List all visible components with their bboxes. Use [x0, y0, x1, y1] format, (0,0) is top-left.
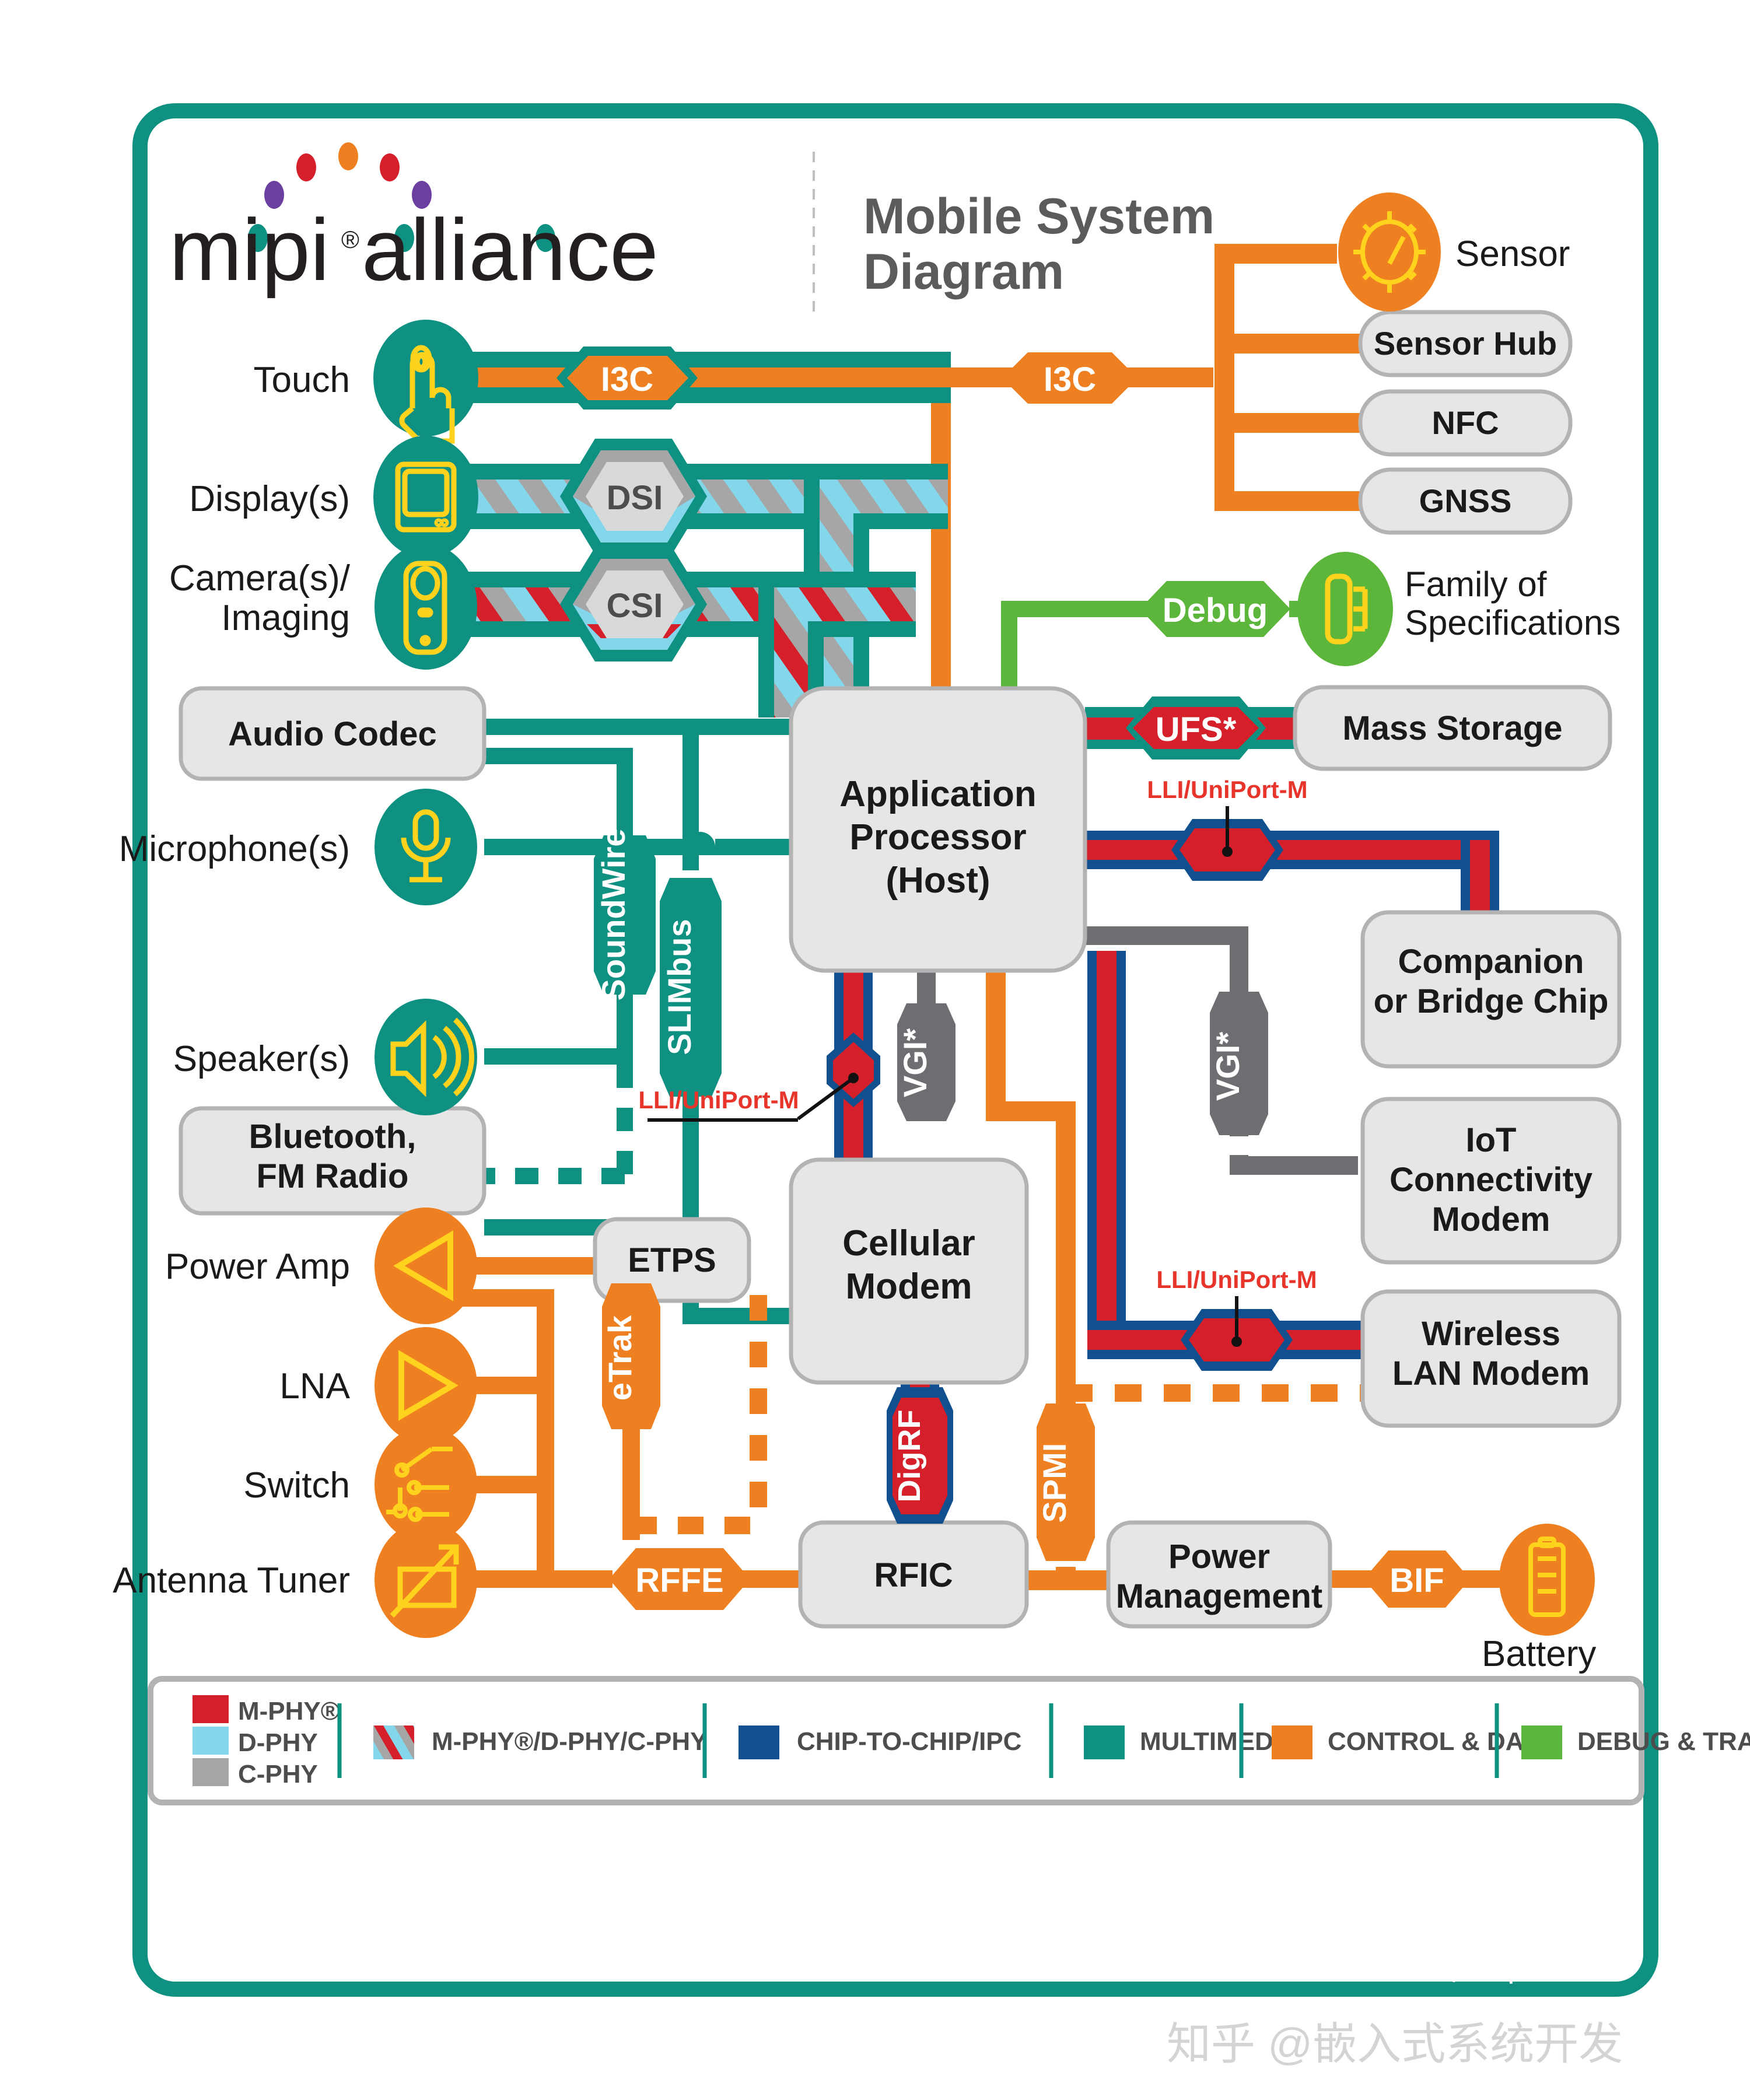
- box-sensor-hub-label: Sensor Hub: [1374, 325, 1557, 362]
- box-app-processor[interactable]: Application Processor (Host): [791, 688, 1085, 971]
- box-bluetooth-fm-label-1: Bluetooth,: [249, 1118, 416, 1156]
- annotation-lli-wlan: LLI/UniPort-M: [1156, 1266, 1317, 1293]
- logo-dot-red-left: [296, 153, 316, 181]
- bus-pill-digrf-label: DigRF: [892, 1410, 927, 1503]
- wire-vgi-right-h: [1085, 926, 1248, 945]
- box-iot-modem-label-1: IoT: [1466, 1121, 1517, 1159]
- bus-pill-soundwire[interactable]: SoundWire: [594, 828, 656, 1000]
- wire-soundwire-down: [617, 748, 633, 835]
- legend-label-mphy: M-PHY®: [238, 1697, 339, 1725]
- bus-pill-spmi-label: SPMI: [1036, 1443, 1073, 1523]
- box-app-processor-label-3: (Host): [885, 860, 990, 901]
- logo-registered-mark: ®: [341, 226, 359, 253]
- box-bluetooth-fm[interactable]: Bluetooth, FM Radio: [181, 1108, 484, 1213]
- wire-i3c-to-sensor: [1214, 244, 1337, 264]
- bus-pill-i3c-right-label: I3C: [1044, 360, 1096, 398]
- bus-pill-etrak-label: eTrak: [601, 1315, 638, 1401]
- box-power-management-label-2: Management: [1116, 1577, 1323, 1615]
- device-power-amp-label: Power Amp: [165, 1247, 350, 1287]
- mipi-mobile-system-diagram: mipi ® alliance Mobile System Diagram: [0, 0, 1750, 2100]
- page-title-line1: Mobile System: [863, 188, 1214, 244]
- box-iot-modem-label-2: Connectivity: [1389, 1161, 1592, 1199]
- legend-swatch-debug: [1521, 1725, 1562, 1759]
- wire-touch-rail-bottom: [426, 387, 951, 403]
- device-battery-label: Battery: [1482, 1634, 1596, 1674]
- box-companion-bridge[interactable]: Companion or Bridge Chip: [1363, 912, 1619, 1066]
- bus-pill-digrf[interactable]: DigRF: [887, 1387, 953, 1524]
- watermark: 知乎 @嵌入式系统开发: [1167, 2020, 1623, 2069]
- logo-wordmark-alliance: alliance: [362, 201, 659, 299]
- box-wlan-modem[interactable]: Wireless LAN Modem: [1363, 1291, 1619, 1426]
- bus-pill-spmi[interactable]: SPMI: [1036, 1403, 1095, 1561]
- legend-swatch-mphy: [192, 1695, 229, 1723]
- wire-microphone-3: [715, 839, 797, 855]
- wire-vgi-right-to-iot: [1230, 1156, 1358, 1175]
- box-mass-storage[interactable]: Mass Storage: [1295, 687, 1610, 769]
- device-camera-label-1: Camera(s)/: [169, 558, 351, 598]
- wire-audiocodec-to-soundwire: [484, 748, 633, 764]
- bus-pill-vgi-left[interactable]: VGI*: [897, 1003, 956, 1121]
- legend-label-combo: M-PHY®/D-PHY/C-PHY: [432, 1727, 707, 1756]
- legend-label-debug: DEBUG & TRACE: [1577, 1727, 1750, 1756]
- bus-pill-debug-label: Debug: [1163, 591, 1268, 629]
- legend-swatch-control: [1272, 1725, 1312, 1759]
- box-sensor-hub[interactable]: Sensor Hub: [1360, 312, 1570, 375]
- wire-rf-vertical-bus: [537, 1289, 554, 1584]
- box-companion-bridge-label-2: or Bridge Chip: [1374, 982, 1609, 1020]
- power-amp-icon-bubble: [374, 1207, 477, 1324]
- wire-lli-wlan-red-v: [1097, 951, 1116, 1359]
- legend-label-cphy: C-PHY: [238, 1760, 318, 1788]
- legend-swatch-chip2chip: [738, 1725, 779, 1759]
- logo-wordmark-mipi: mipi: [169, 201, 330, 299]
- bus-pill-ufs[interactable]: UFS*: [1126, 696, 1266, 759]
- box-mass-storage-label: Mass Storage: [1342, 709, 1562, 747]
- bus-pill-slimbus-label: SLIMbus: [661, 919, 698, 1055]
- box-iot-modem[interactable]: IoT Connectivity Modem: [1363, 1099, 1619, 1262]
- legend-swatch-cphy: [192, 1758, 229, 1786]
- box-audio-codec[interactable]: Audio Codec: [181, 688, 484, 779]
- footnote-1: *Dark grey indicates specifications stil…: [178, 1818, 802, 1846]
- footnote-4: are service marks of MIPI Alliance. [Thi…: [178, 1954, 1288, 1982]
- box-companion-bridge-label-1: Companion: [1398, 943, 1584, 981]
- annotation-lli-ap: LLI/UniPort-M: [638, 1086, 799, 1114]
- logo-dot-orange: [338, 142, 358, 170]
- box-power-management-label-1: Power: [1168, 1538, 1270, 1576]
- bus-pill-i3c-left-label: I3C: [601, 360, 653, 398]
- bus-pill-vgi-right-label: VGI*: [1209, 1032, 1246, 1101]
- legend-label-chip2chip: CHIP-TO-CHIP/IPC: [797, 1727, 1021, 1756]
- box-rfic[interactable]: RFIC: [800, 1522, 1027, 1626]
- box-audio-codec-label: Audio Codec: [228, 715, 437, 753]
- bus-pill-dsi-label: DSI: [607, 479, 663, 517]
- wire-pa-to-etps: [461, 1257, 595, 1275]
- device-camera-label-2: Imaging: [221, 598, 350, 638]
- logo-dot-red-right: [380, 153, 400, 181]
- wire-ap-orange-down: [986, 970, 1006, 1121]
- device-antenna-tuner-label: Antenna Tuner: [113, 1560, 350, 1601]
- touch-icon-bubble: [373, 320, 478, 436]
- box-nfc[interactable]: NFC: [1360, 391, 1570, 454]
- box-cellular-modem-label-1: Cellular: [842, 1223, 975, 1263]
- wire-speaker: [484, 1048, 633, 1065]
- legend: M-PHY® D-PHY C-PHY M-PHY®/D-PHY/C-PHY CH…: [150, 1679, 1750, 1803]
- wire-i3c-to-nfc: [1214, 413, 1360, 433]
- wire-i3c-down-to-ap: [931, 367, 951, 735]
- box-rfic-label: RFIC: [874, 1556, 953, 1594]
- spec-family-icon-bubble: [1297, 552, 1393, 666]
- box-wlan-modem-label-1: Wireless: [1422, 1315, 1560, 1353]
- bus-pill-rffe-label: RFFE: [635, 1562, 723, 1599]
- wire-camera-down-left: [758, 572, 774, 717]
- wire-debug-right: [1001, 601, 1158, 617]
- legend-swatch-combo: [373, 1725, 414, 1759]
- box-nfc-label: NFC: [1431, 404, 1499, 441]
- device-speaker-label: Speaker(s): [173, 1039, 350, 1079]
- bus-pill-rffe[interactable]: RFFE: [609, 1548, 750, 1610]
- wire-i3c-to-gnss: [1214, 491, 1360, 511]
- wire-audiocodec-to-ap: [484, 719, 793, 735]
- copyright-text: ©MIPI Alliance, Inc. | June 2018: [1299, 1959, 1627, 1984]
- bus-pill-csi-label: CSI: [607, 587, 663, 625]
- bus-pill-vgi-right[interactable]: VGI*: [1209, 992, 1268, 1135]
- wire-touch-rail-top: [426, 352, 951, 367]
- box-wlan-modem-label-2: LAN Modem: [1392, 1354, 1590, 1392]
- box-gnss[interactable]: GNSS: [1360, 470, 1570, 533]
- box-etps-label: ETPS: [628, 1241, 716, 1279]
- box-gnss-label: GNSS: [1419, 482, 1512, 519]
- box-app-processor-label-2: Processor: [849, 817, 1026, 857]
- box-bluetooth-fm-label-2: FM Radio: [257, 1157, 409, 1195]
- device-spec-family-label-2: Specifications: [1405, 603, 1620, 642]
- footnote-2: *The UFS (Universal Flash Storage) speci…: [178, 1873, 1543, 1902]
- wire-to-cellular-h: [682, 1308, 793, 1324]
- bus-pill-slimbus[interactable]: SLIMbus: [660, 878, 722, 1097]
- device-lna-label: LNA: [279, 1366, 350, 1406]
- wire-lli-comp-red: [1085, 840, 1499, 860]
- wire-bus-to-rffe: [537, 1570, 612, 1588]
- bus-pill-etrak[interactable]: eTrak: [601, 1283, 660, 1429]
- bus-pill-i3c-left[interactable]: I3C: [556, 346, 698, 409]
- bus-pill-debug[interactable]: Debug: [1140, 581, 1290, 637]
- wire-ap-orange-right: [986, 1101, 1067, 1121]
- box-iot-modem-label-3: Modem: [1432, 1200, 1550, 1238]
- annotation-lli-companion: LLI/UniPort-M: [1147, 776, 1307, 803]
- bus-pill-vgi-left-label: VGI*: [897, 1028, 933, 1097]
- box-cellular-modem[interactable]: Cellular Modem: [791, 1160, 1027, 1382]
- wire-i3c-to-sensor-hub: [1214, 334, 1360, 353]
- footnote-3: MIPI, DigRF, M-PHY, SLIMbus, and SoundWi…: [178, 1923, 1630, 1952]
- device-switch-label: Switch: [243, 1465, 350, 1506]
- device-sensor-label: Sensor: [1455, 234, 1570, 274]
- wire-display-rail-top2: [814, 464, 948, 480]
- bus-pill-soundwire-label: SoundWire: [595, 828, 632, 1000]
- box-cellular-modem-label-2: Modem: [846, 1266, 972, 1307]
- legend-swatch-dphy: [192, 1727, 229, 1755]
- display-icon-bubble: [373, 436, 478, 558]
- legend-label-control: CONTROL & DATA: [1328, 1727, 1555, 1756]
- bus-pill-i3c-right[interactable]: I3C: [1002, 352, 1137, 404]
- bus-pill-ufs-label: UFS*: [1156, 710, 1237, 748]
- bus-pill-bif-label: BIF: [1389, 1562, 1444, 1599]
- wire-i3c-right-bus: [1214, 244, 1234, 506]
- device-display-label: Display(s): [189, 479, 350, 519]
- box-power-management[interactable]: Power Management: [1108, 1522, 1330, 1626]
- wire-slimbus-down: [682, 1097, 699, 1235]
- box-app-processor-label-1: Application: [839, 774, 1037, 814]
- wire-camera-rail-top2: [814, 572, 916, 587]
- legend-swatch-multimedia: [1084, 1725, 1125, 1759]
- wire-camera-rail-bottom2: [814, 621, 916, 637]
- device-touch-label: Touch: [254, 360, 350, 400]
- device-microphone-label: Microphone(s): [119, 829, 350, 869]
- legend-label-dphy: D-PHY: [238, 1728, 318, 1757]
- device-spec-family-label-1: Family of: [1405, 565, 1547, 604]
- page-title-line2: Diagram: [863, 244, 1064, 300]
